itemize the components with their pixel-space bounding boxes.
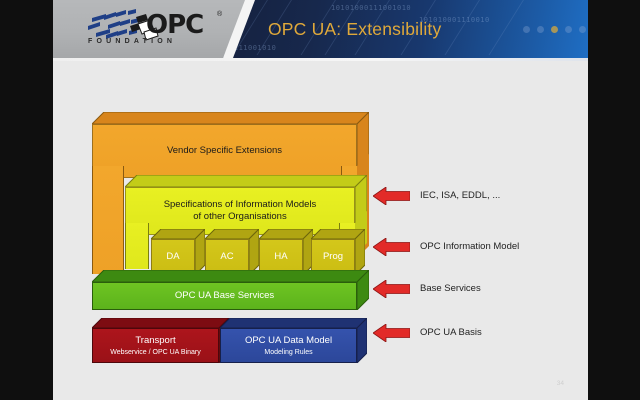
left-arrow-icon [373,324,410,342]
profile-box-ha: HA [259,229,303,265]
header-dot-row [523,26,588,33]
layer-base-services-face: OPC UA Base Services [92,282,357,310]
layer-base-services: OPC UA Base Services [92,270,357,298]
layer-vendor-extensions-label: Vendor Specific Extensions [167,145,282,157]
layer-information-models-label-line2: of other Organisations [193,211,286,223]
base-box-data-model-label: OPC UA Data Model [245,335,332,347]
profile-box-prog-label: Prog [323,251,343,263]
layer-information-models-left-column [125,223,149,269]
base-box-transport: Transport Webservice / OPC UA Binary [92,318,219,353]
base-box-data-model-sublabel: Modeling Rules [264,349,312,356]
header-underline [53,58,588,61]
annotation-information-model-label: OPC Information Model [420,241,519,252]
slide-page-number: 34 [557,380,564,387]
layer-vendor-extensions-face: Vendor Specific Extensions [92,124,357,178]
layer-information-models: Specifications of Information Models of … [125,175,355,223]
left-arrow-icon [373,238,410,256]
base-box-data-model: OPC UA Data Model Modeling Rules [220,318,357,353]
video-player-viewport: 10101000111001010 101010001110010 100011… [0,0,640,400]
logo-subtitle: FOUNDATION [88,38,176,45]
left-arrow-icon [373,187,410,205]
profile-box-da: DA [151,229,195,265]
annotation-base-services-label: Base Services [420,283,481,294]
logo-wordmark: OPC [146,10,203,40]
logo-registered-mark: ® [217,11,222,18]
profile-box-da-label: DA [166,251,179,263]
slide-title: OPC UA: Extensibility [268,19,441,40]
annotation-ua-basis-label: OPC UA Basis [420,327,482,338]
presentation-slide: 10101000111001010 101010001110010 100011… [53,0,588,400]
layer-vendor-extensions-left-column [92,166,124,274]
base-box-transport-face: Transport Webservice / OPC UA Binary [92,328,219,363]
opc-foundation-logo: OPC ® FOUNDATION [86,8,246,52]
slide-header: 10101000111001010 101010001110010 100011… [53,0,588,58]
base-box-data-model-face: OPC UA Data Model Modeling Rules [220,328,357,363]
annotation-standards-label: IEC, ISA, EDDL, ... [420,190,500,201]
layer-vendor-extensions: Vendor Specific Extensions [92,112,357,166]
profile-box-ac-label: AC [220,251,233,263]
layer-base-services-label: OPC UA Base Services [175,290,274,302]
layer-information-models-label: Specifications of Information Models [164,199,317,211]
base-box-transport-label: Transport [135,335,175,347]
profile-box-ac: AC [205,229,249,265]
profile-box-ha-label: HA [274,251,287,263]
profile-box-prog: Prog [311,229,355,265]
left-arrow-icon [373,280,410,298]
layer-information-models-face: Specifications of Information Models of … [125,187,355,235]
header-binary-text-1: 10101000111001010 [331,4,411,12]
base-box-transport-sublabel: Webservice / OPC UA Binary [110,349,201,356]
